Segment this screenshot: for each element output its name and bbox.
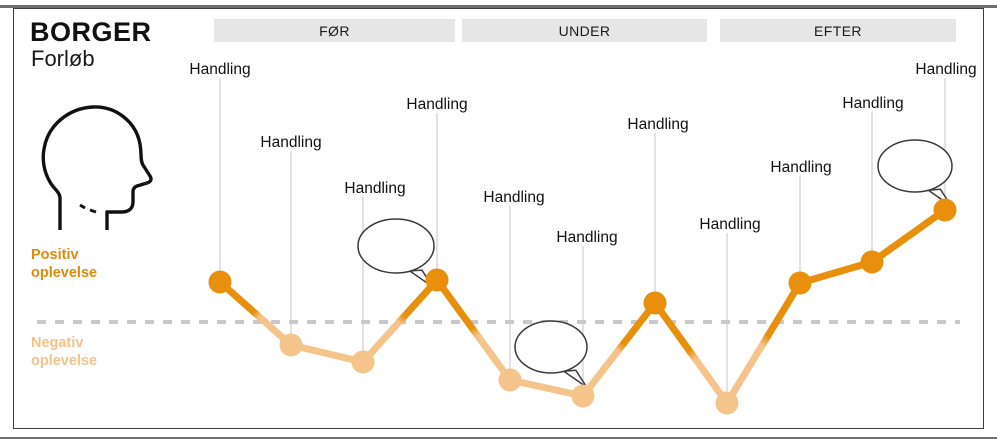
infographic-canvas: BORGER Forløb Positiv oplevelse Negativ … [0, 0, 997, 446]
legend-positive-label: Positiv oplevelse [31, 246, 97, 282]
node-label-4: Handling [406, 97, 467, 113]
phase-bar-under[interactable]: UNDER [462, 19, 707, 42]
node-label-9: Handling [770, 160, 831, 176]
page-subtitle: Forløb [31, 48, 95, 70]
node-label-1: Handling [189, 62, 250, 78]
left-legend-panel: BORGER Forløb Positiv oplevelse Negativ … [14, 9, 200, 428]
node-label-8: Handling [699, 217, 760, 233]
head-profile-icon [30, 102, 156, 232]
node-label-3: Handling [344, 181, 405, 197]
phase-bar-efter[interactable]: EFTER [720, 19, 956, 42]
phase-bar-for[interactable]: FØR [214, 19, 455, 42]
node-label-2: Handling [260, 135, 321, 151]
node-label-10: Handling [842, 96, 903, 112]
node-label-7: Handling [627, 117, 688, 133]
node-label-6: Handling [556, 230, 617, 246]
node-label-5: Handling [483, 190, 544, 206]
page-title: BORGER [30, 19, 152, 46]
legend-negative-label: Negativ oplevelse [31, 334, 97, 370]
node-label-11: Handling [915, 62, 976, 78]
bottom-rule [0, 437, 997, 439]
